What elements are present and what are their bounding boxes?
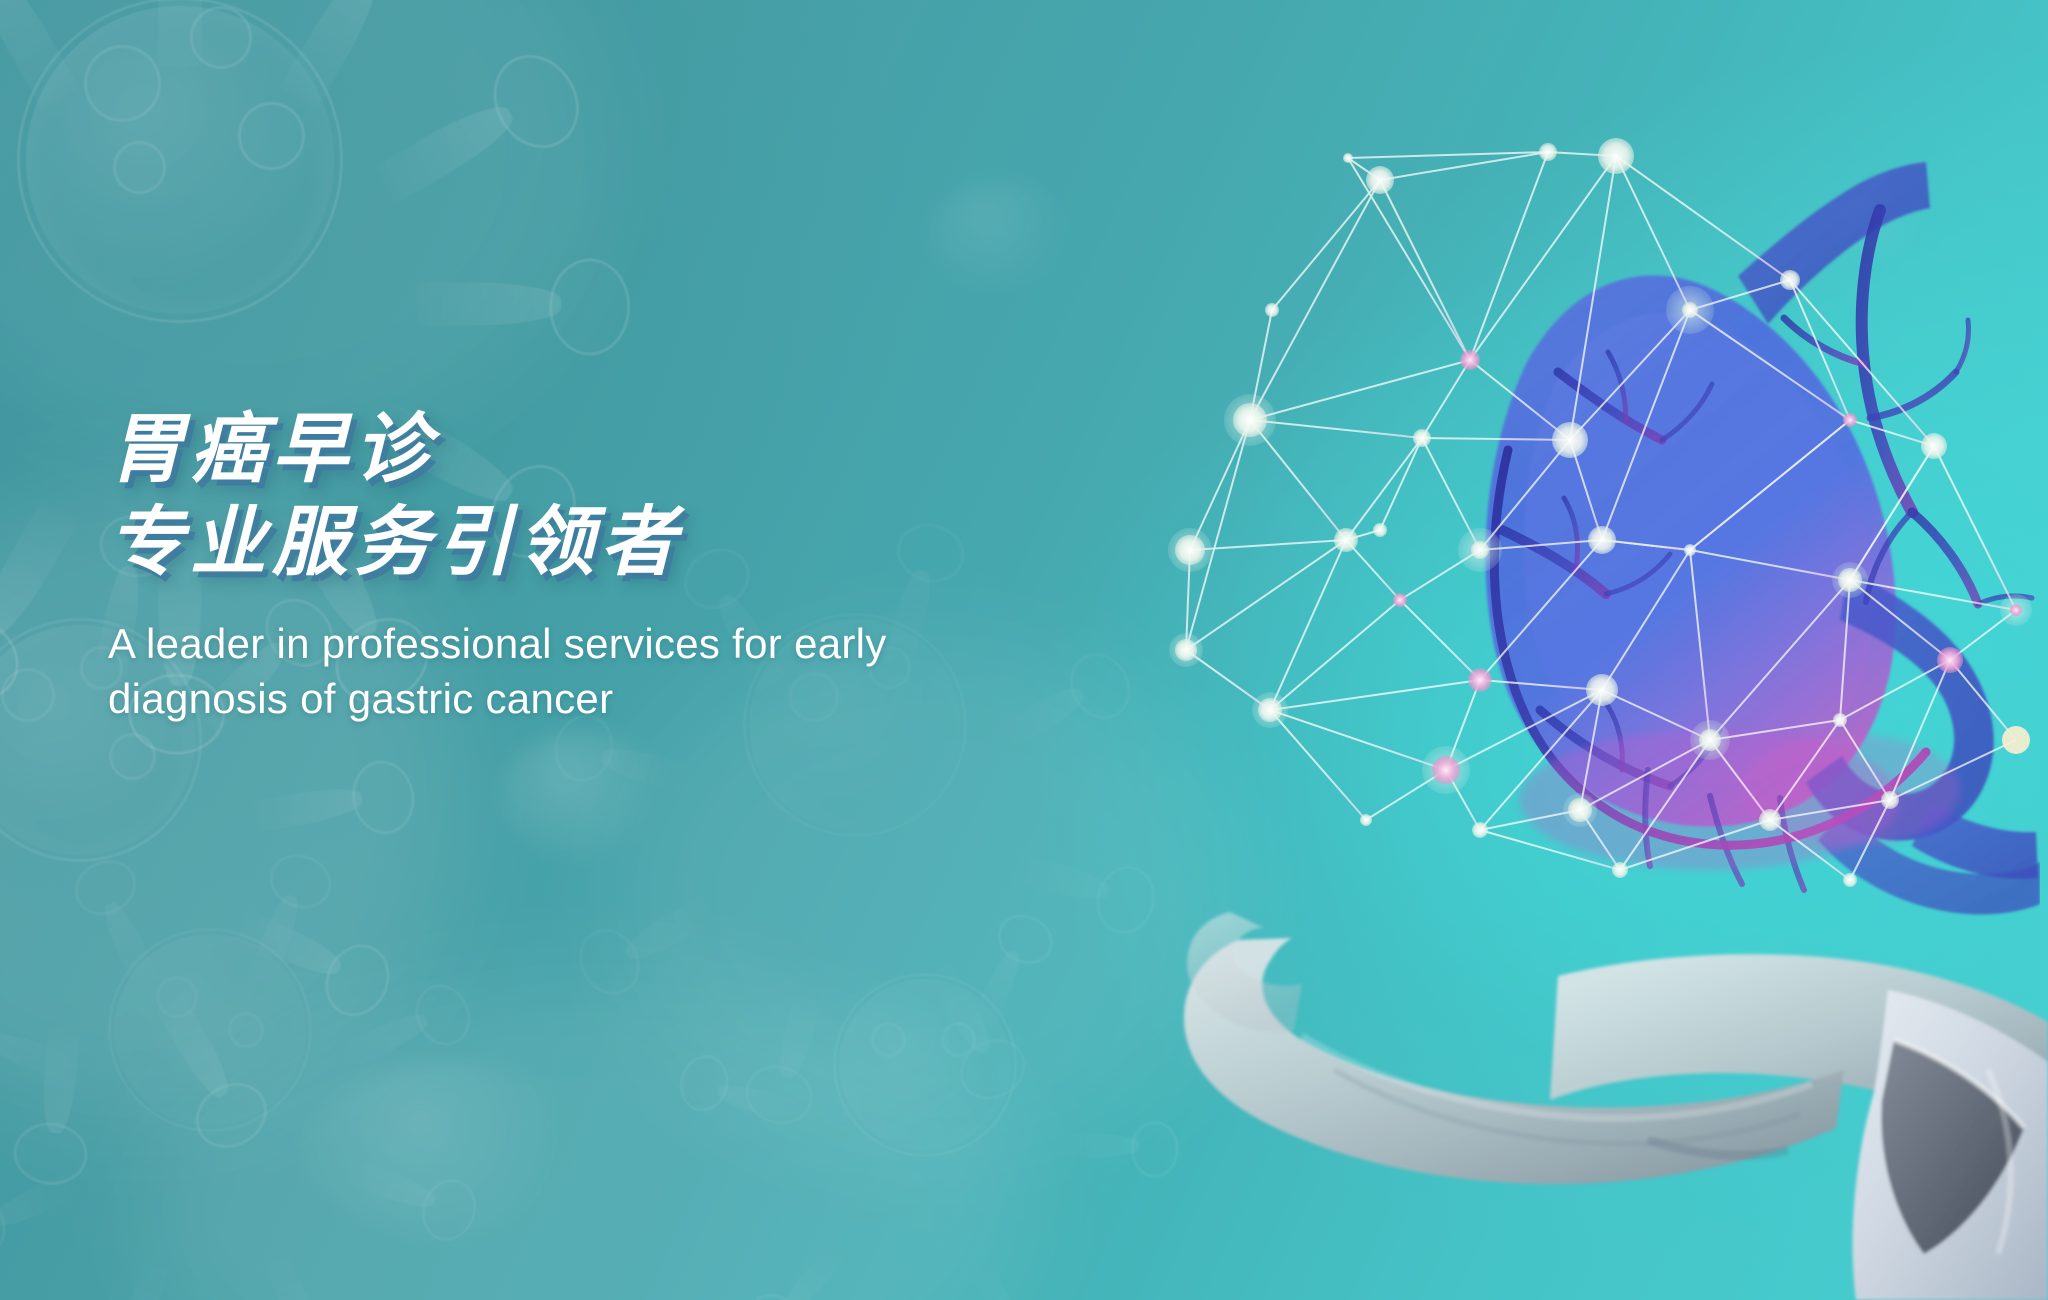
esophagus-group — [1738, 162, 1930, 324]
hand-illustration — [1088, 740, 2048, 1300]
mesh-node — [1366, 166, 1394, 194]
mesh-node — [1699, 729, 1721, 751]
palm — [1184, 938, 1844, 1184]
mesh-edges — [1186, 152, 2016, 880]
mesh-node — [1432, 756, 1460, 784]
mesh-node — [1838, 568, 1862, 592]
mesh-halo-nodes — [1168, 286, 2032, 827]
mesh-node — [1175, 639, 1197, 661]
mesh-node — [1682, 302, 1698, 318]
mesh-node — [1588, 526, 1616, 554]
mesh-node — [1598, 138, 1634, 174]
lab-coat-sleeve — [1853, 990, 2048, 1300]
mesh-node — [1373, 523, 1387, 537]
stomach-antrum — [1806, 570, 1994, 841]
knuckle-shade-1 — [1648, 1140, 1788, 1155]
stomach-body — [1485, 275, 1895, 826]
stomach-illustration — [1240, 150, 2040, 950]
mesh-node — [1343, 153, 1353, 163]
stomach-antrum-duodenum-group — [1806, 570, 2040, 915]
mesh-node — [1460, 350, 1480, 370]
mesh-node — [1468, 668, 1492, 692]
virus-ring — [108, 928, 312, 1132]
mesh-node — [1780, 270, 1800, 290]
virus-body — [26, 6, 333, 313]
mesh-node — [1360, 814, 1372, 826]
stomach-magenta-glow — [1520, 730, 1900, 870]
mesh-node — [1881, 791, 1899, 809]
virus-watermark-bottom-left — [60, 880, 360, 1180]
headline-line-1: 胃癌早诊 — [108, 410, 1108, 491]
forearm — [1550, 954, 2048, 1160]
duodenum-loop — [1818, 810, 2040, 915]
mesh-node — [1471, 541, 1489, 559]
mesh-node — [1233, 403, 1267, 437]
finger-ridge-2 — [1334, 1070, 1800, 1144]
stomach-inner-highlight — [1524, 313, 1875, 784]
banner-subtitle: A leader in professional services for ea… — [108, 617, 888, 726]
mesh-node — [1539, 143, 1557, 161]
mesh-node — [1612, 862, 1628, 878]
mesh-node — [1833, 713, 1847, 727]
background-blob-3 — [300, 1060, 600, 1240]
lab-coat-cuff-opening — [1881, 1040, 2024, 1254]
virus-body — [114, 934, 306, 1126]
virus-ring — [17, 0, 343, 323]
mesh-node — [1684, 544, 1696, 556]
virus-watermark-top-left — [0, 0, 420, 400]
stomach-vasculature — [1502, 210, 2032, 890]
stomach-body-group — [1485, 275, 1895, 826]
network-mesh-overlay — [1150, 120, 2048, 940]
background-blob-4 — [1830, 190, 1920, 260]
background-haze-bottom — [140, 980, 1040, 1300]
mesh-node — [1759, 809, 1781, 831]
mesh-node — [1258, 698, 1282, 722]
mesh-node — [1843, 413, 1857, 427]
headline-line-2: 专业服务引领者 — [108, 503, 1108, 584]
mesh-node — [1937, 647, 1963, 673]
banner-text-block: 胃癌早诊 专业服务引领者 A leader in professional se… — [108, 410, 1108, 726]
stomach-outline-rim — [1494, 450, 1926, 845]
mesh-node — [1568, 798, 1592, 822]
esophagus — [1738, 162, 1930, 324]
mesh-node — [1265, 303, 1279, 317]
stomach-magenta-glow-2 — [1740, 734, 1960, 846]
background-blob-2 — [930, 180, 1070, 290]
mesh-node — [1921, 433, 1947, 459]
mesh-node — [2010, 604, 2022, 616]
mesh-node — [1552, 422, 1588, 458]
mesh-node — [1413, 429, 1431, 447]
mesh-node — [1843, 873, 1857, 887]
mesh-nodes — [1175, 138, 2030, 887]
mesh-node — [2002, 726, 2030, 754]
lab-coat-fold — [1988, 1070, 2011, 1254]
finger-ridge-1 — [1302, 1036, 1812, 1118]
thumb — [1187, 912, 1302, 1032]
hero-banner: 胃癌早诊 专业服务引领者 A leader in professional se… — [0, 0, 2048, 1300]
mesh-node — [1175, 535, 1205, 565]
stomach-svg — [1240, 150, 2040, 950]
lab-coat-cuff-edge — [1894, 1040, 2024, 1128]
background-haze-topleft — [0, 0, 600, 460]
mesh-node — [1586, 674, 1618, 706]
virus-watermark-center-bottom — [790, 930, 1060, 1200]
mesh-node — [1393, 593, 1407, 607]
network-mesh-svg — [1150, 120, 2048, 940]
duodenum — [1912, 802, 2038, 879]
virus-body — [839, 979, 1012, 1152]
mesh-node — [1334, 528, 1358, 552]
mesh-node — [1472, 822, 1488, 838]
background-blob-1 — [500, 730, 670, 860]
hand-svg — [1088, 740, 2048, 1300]
virus-ring — [833, 973, 1017, 1157]
